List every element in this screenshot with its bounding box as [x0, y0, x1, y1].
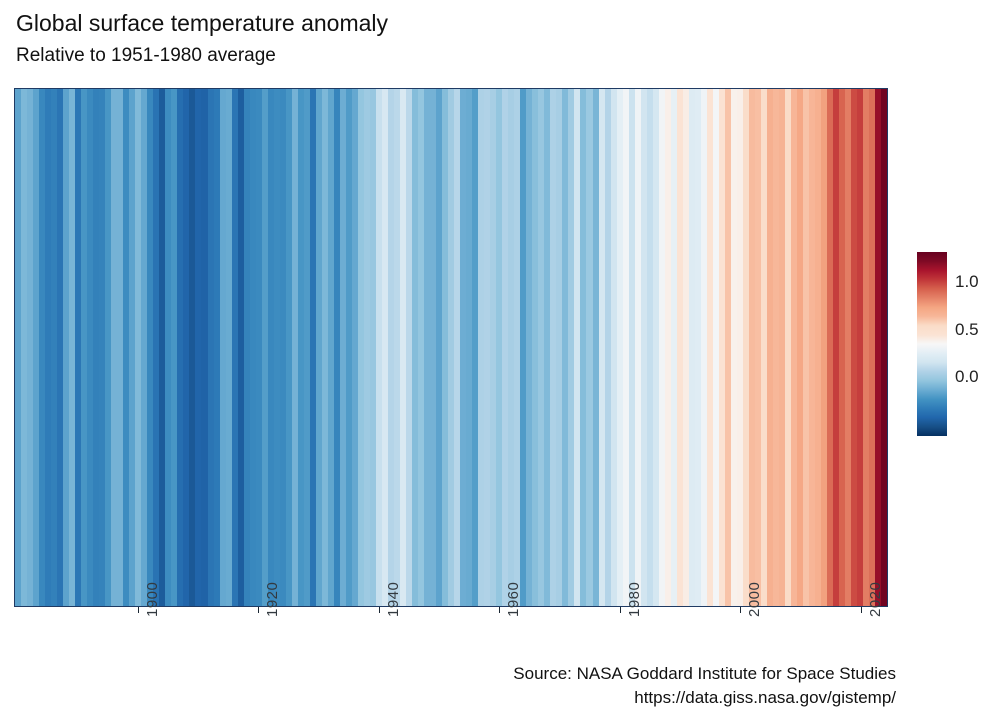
x-axis-tick-label: 1980: [626, 582, 643, 617]
caption-line-source: Source: NASA Goddard Institute for Space…: [336, 662, 896, 686]
colorbar-gradient: [917, 252, 947, 436]
x-axis-tick-label: 1940: [385, 582, 402, 617]
climate-stripes-chart: Global surface temperature anomaly Relat…: [0, 0, 1008, 720]
x-axis-tick-mark: [620, 607, 621, 613]
x-axis-tick-mark: [861, 607, 862, 613]
x-axis-tick-mark: [379, 607, 380, 613]
temperature-stripes: [15, 89, 887, 606]
x-axis-tick-label: 1900: [144, 582, 161, 617]
x-axis-tick-mark: [740, 607, 741, 613]
colorbar-tick-label: 1.0: [955, 272, 979, 292]
x-axis-tick-mark: [138, 607, 139, 613]
x-axis-tick-label: 1920: [264, 582, 281, 617]
chart-subtitle: Relative to 1951-1980 average: [16, 44, 276, 68]
x-axis-tick-label: 1960: [505, 582, 522, 617]
plot-panel: [14, 88, 888, 607]
x-axis-tick-mark: [258, 607, 259, 613]
x-axis-tick-label: 2020: [867, 582, 884, 617]
x-axis: 1900192019401960198020002020: [14, 607, 888, 667]
source-caption: Source: NASA Goddard Institute for Space…: [336, 662, 896, 710]
colorbar-tick-label: 0.5: [955, 320, 979, 340]
colorbar-tick-label: 0.0: [955, 367, 979, 387]
year-stripe: [881, 89, 887, 606]
x-axis-tick-mark: [499, 607, 500, 613]
x-axis-tick-label: 2000: [746, 582, 763, 617]
colorbar-legend: 1.00.50.0: [917, 252, 1003, 436]
caption-line-url: https://data.giss.nasa.gov/gistemp/: [336, 686, 896, 710]
chart-title: Global surface temperature anomaly: [16, 9, 388, 37]
